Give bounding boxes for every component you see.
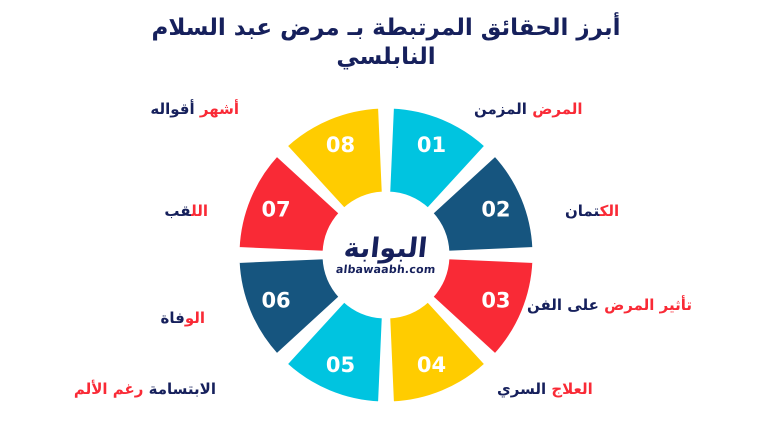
page-title-line-1: أبرز الحقائق المرتبطة بـ مرض عبد السلام <box>0 14 772 43</box>
segment-number-03: 03 <box>481 289 510 313</box>
segment-label-05: الابتسامة رغم الألم <box>74 381 216 398</box>
segment-label-02-navy: تمان <box>565 202 600 220</box>
segment-label-03-red: تأثير المرض <box>604 296 692 314</box>
segment-number-02: 02 <box>481 197 510 221</box>
segment-label-07-red: الل <box>191 202 208 220</box>
segment-label-04: العلاج السري <box>497 381 593 398</box>
segment-label-03-navy: على الفن <box>527 296 599 314</box>
segment-label-01: المرض المزمن <box>474 101 583 118</box>
donut-wheel: 0102030405060708 <box>236 105 536 405</box>
segment-number-05: 05 <box>326 353 355 377</box>
segment-label-06-red: الو <box>185 309 205 327</box>
segment-number-07: 07 <box>261 197 290 221</box>
segment-label-02: الكتمان <box>565 203 619 220</box>
segment-number-08: 08 <box>326 133 355 157</box>
segment-number-01: 01 <box>417 133 446 157</box>
segment-label-07: اللقب <box>164 203 208 220</box>
segment-label-02-red: الك <box>600 202 620 220</box>
segment-label-04-navy: السري <box>497 380 546 398</box>
segment-number-06: 06 <box>261 289 290 313</box>
segment-label-05-navy: الابتسامة <box>149 380 216 398</box>
page-title: أبرز الحقائق المرتبطة بـ مرض عبد السلام … <box>0 14 772 73</box>
segment-label-05-red: رغم الألم <box>74 380 144 398</box>
segment-label-06-navy: فاة <box>161 309 185 327</box>
segment-number-04: 04 <box>417 353 446 377</box>
page-title-line-2: النابلسي <box>0 43 772 72</box>
donut-wheel-svg: 0102030405060708 <box>236 105 536 405</box>
infographic-canvas: أبرز الحقائق المرتبطة بـ مرض عبد السلام … <box>0 0 772 440</box>
segment-label-07-navy: قب <box>164 202 191 220</box>
segment-label-06: الوفاة <box>161 310 206 327</box>
segment-label-03: تأثير المرض على الفن <box>527 297 692 314</box>
segment-label-08: أشهر أقواله <box>150 101 239 118</box>
segment-label-01-navy: المزمن <box>474 100 527 118</box>
segment-label-08-red: أشهر <box>200 100 239 118</box>
segment-label-08-navy: أقواله <box>150 100 194 118</box>
segment-label-04-red: العلاج <box>551 380 592 398</box>
segment-label-01-red: المرض <box>532 100 582 118</box>
